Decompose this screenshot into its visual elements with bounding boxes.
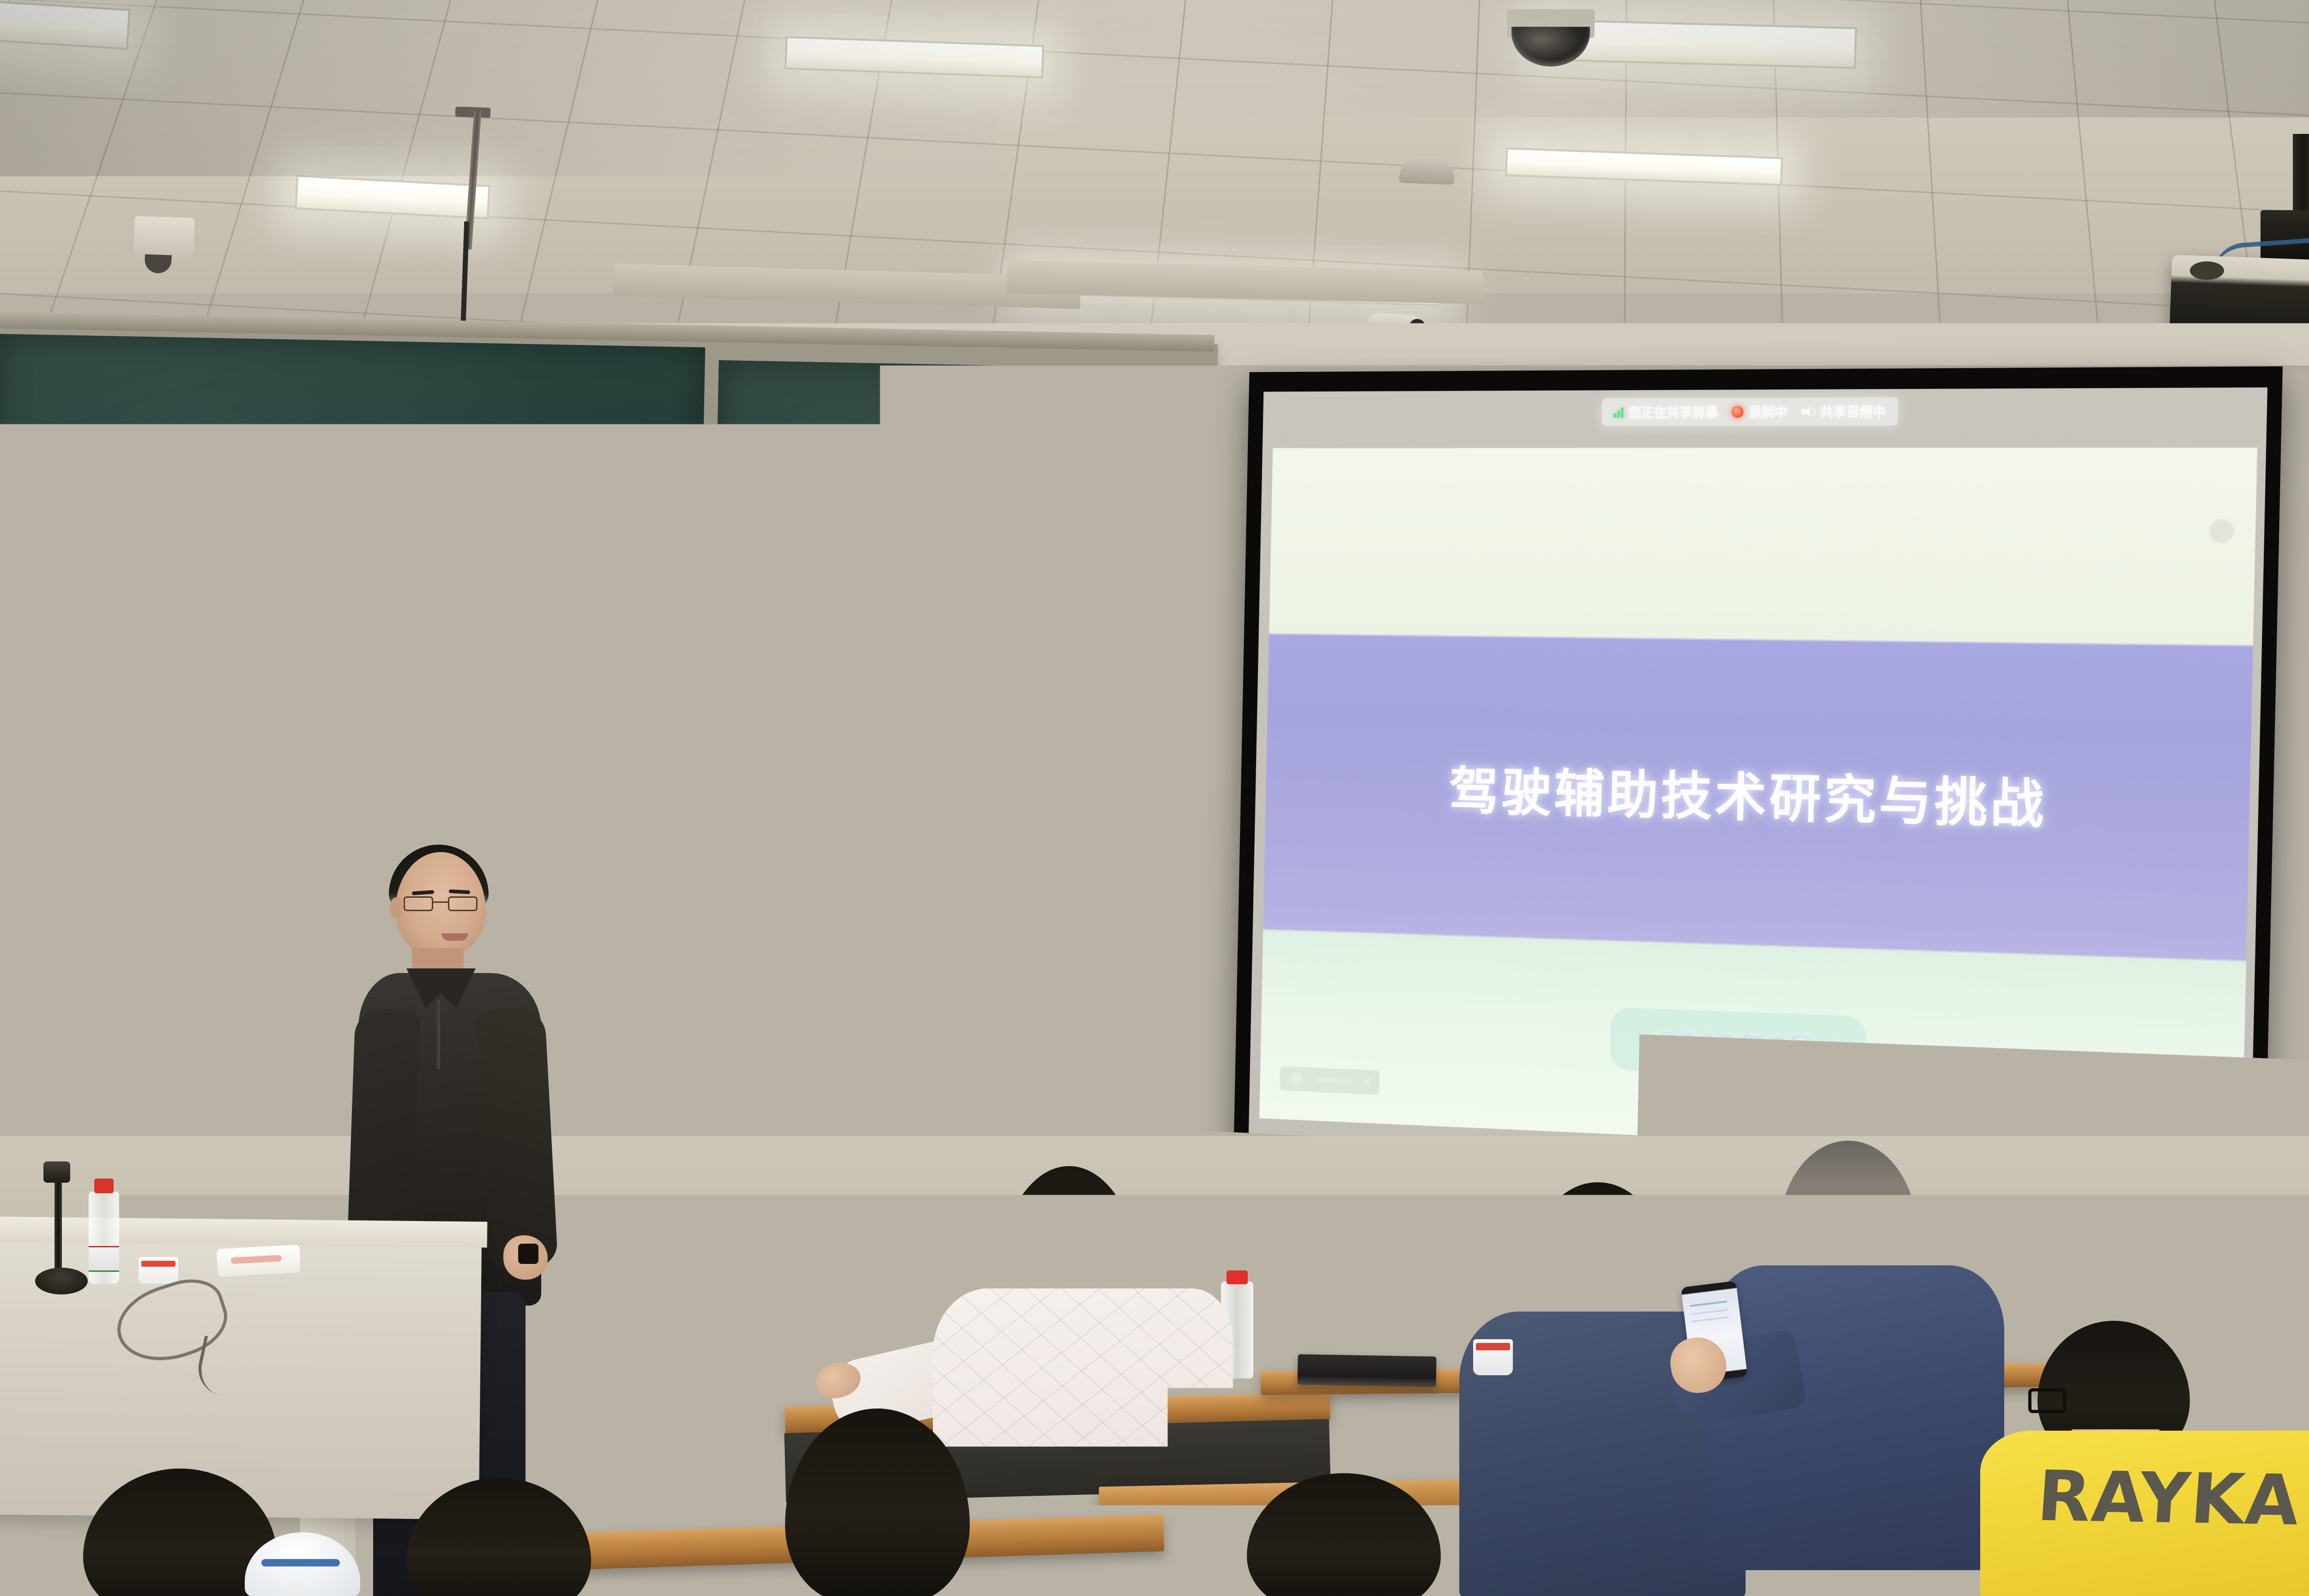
presenter-shirt-placket: [437, 1000, 440, 1069]
presentation-clicker[interactable]: [518, 1244, 538, 1264]
pen-tool-icon[interactable]: [1289, 1072, 1303, 1086]
wall-speaker-icon: [133, 216, 194, 264]
glasses-icon: [402, 896, 483, 912]
audio-status-label: 共享音频中: [1820, 402, 1886, 421]
slide-date-pill: 2023年6月: [1609, 1007, 1866, 1080]
dome-camera-lens: [1511, 27, 1590, 66]
slide-title: 驾驶辅助技术研究与挑战: [1265, 746, 2250, 843]
microphone-base: [35, 1268, 88, 1294]
blackboard-panel: [711, 360, 1204, 771]
recording-status-label: 录制中: [1748, 402, 1788, 421]
blackboard-panel: [703, 778, 1196, 1178]
projector-mount-rod: [2293, 134, 2309, 217]
presentation-toolbar[interactable]: [1280, 1066, 1379, 1095]
laptop[interactable]: [1297, 1354, 1436, 1387]
signal-bars-icon: [1614, 407, 1623, 418]
presenter-right-arm: [475, 1007, 558, 1269]
ceiling: [0, 0, 2309, 351]
jersey-text: RAYKA: [2035, 1456, 2309, 1542]
ceiling-light: [0, 0, 130, 49]
bottle-cap: [1227, 1270, 1248, 1284]
presenter-mouth: [441, 933, 468, 941]
ceiling-tile-grid: [0, 0, 2309, 351]
paper-cup[interactable]: [139, 1257, 178, 1284]
projection-screen: 您正在共享屏幕 录制中 共享音频中 驾驶辅助技术研究与挑战 2023年6月: [1233, 366, 2283, 1207]
audio-status-item: 共享音频中: [1801, 402, 1886, 421]
ceiling-mic-mount: [455, 107, 491, 118]
glasses-icon: [1519, 1238, 1547, 1259]
audience-woman-white-blouse: [933, 1288, 1233, 1593]
blackboard-panel: [0, 334, 705, 744]
dome-camera-icon: [1502, 9, 1599, 65]
bottle-cap: [94, 1179, 114, 1193]
projection-surface: 您正在共享屏幕 录制中 共享音频中 驾驶辅助技术研究与挑战 2023年6月: [1248, 387, 2267, 1191]
audience-man2-blue-shirt: [1709, 1265, 2004, 1570]
record-dot-icon: [1731, 406, 1743, 418]
speaker-icon: [1801, 406, 1815, 417]
bottle-label: [89, 1246, 119, 1272]
glasses-icon: [2028, 1388, 2066, 1413]
microphone-icon[interactable]: [43, 1161, 70, 1183]
presentation-slide: 驾驶辅助技术研究与挑战 2023年6月: [1259, 447, 2257, 1162]
projector-lens-icon: [2190, 261, 2224, 280]
prev-slide-chevron-icon[interactable]: [1364, 1077, 1370, 1087]
microphone-stand: [54, 1182, 62, 1275]
water-bottle[interactable]: [89, 1191, 119, 1284]
recording-status-item: 录制中: [1731, 402, 1788, 421]
share-status-item: 您正在共享屏幕: [1614, 403, 1718, 421]
window: [2297, 522, 2309, 616]
screen-share-toolbar[interactable]: 您正在共享屏幕 录制中 共享音频中: [1602, 398, 1898, 426]
light-switch[interactable]: [2290, 891, 2302, 911]
lecture-hall-scene: 您正在共享屏幕 录制中 共享音频中 驾驶辅助技术研究与挑战 2023年6月: [0, 0, 2309, 1596]
pointer-bar-icon[interactable]: [1314, 1077, 1352, 1084]
paper-cup[interactable]: [1473, 1339, 1513, 1375]
presenter-ear: [390, 897, 403, 919]
podium-top-surface: [0, 1216, 487, 1247]
glasses-icon: [1772, 1201, 1807, 1224]
share-status-label: 您正在共享屏幕: [1628, 403, 1718, 421]
slide-corner-badge: [2209, 519, 2234, 543]
napkins[interactable]: [217, 1245, 301, 1276]
